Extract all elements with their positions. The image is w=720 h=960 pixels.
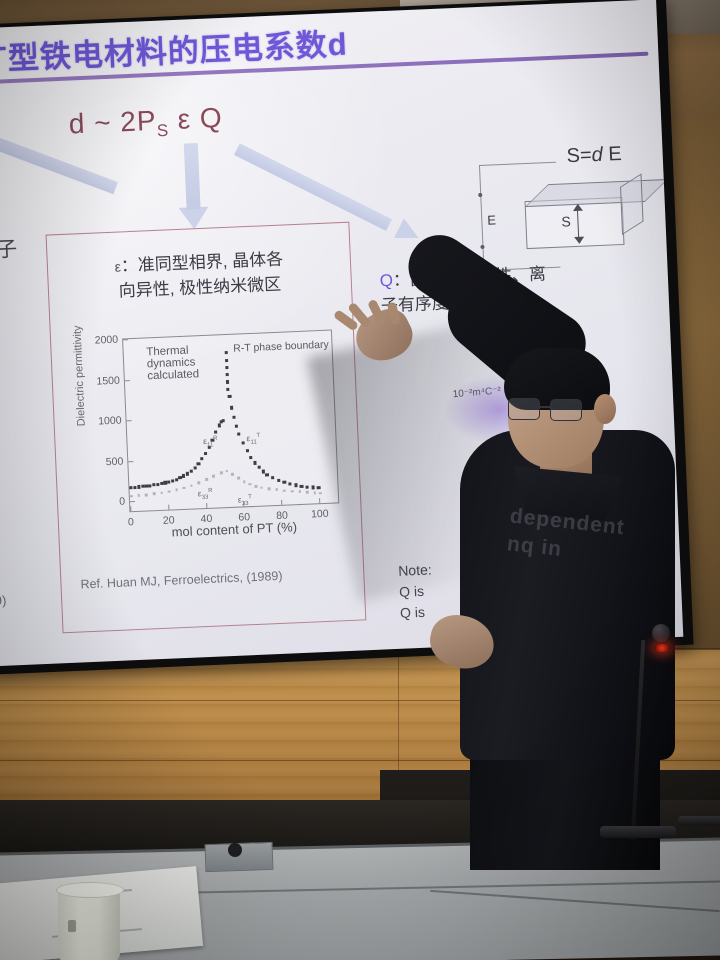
chart-data-point (231, 473, 234, 476)
lecture-photo-scene: 钛矿型铁电材料的压电系数d d ~ 2PS ε Q S=d E E S 的电子 … (0, 0, 720, 960)
chart-data-point (218, 424, 221, 427)
chart-y-tick-label: 1500 (96, 374, 120, 387)
chart-y-tick-mark (123, 339, 128, 340)
chart-data-point (261, 470, 264, 473)
chart-y-tick-label: 1000 (98, 415, 122, 428)
chart-data-point (183, 487, 186, 490)
note-line-3: Q is (400, 604, 426, 621)
chart-data-point (160, 491, 163, 494)
chart-curve-label: ε11T (246, 432, 260, 445)
cup-rim (56, 882, 124, 898)
chart-data-point (260, 486, 263, 489)
epsilon-line1: ：准同型相界, 晶体各 (120, 250, 283, 276)
presenter-ear (594, 394, 616, 424)
chart-data-point (130, 495, 133, 498)
chart-data-point (255, 485, 258, 488)
chart-data-point (221, 419, 224, 422)
chart-data-point (288, 482, 291, 485)
chart-y-tick-mark (125, 380, 130, 381)
chart-data-point (214, 431, 217, 434)
chart-data-point (300, 484, 303, 487)
chart-x-tick-mark (319, 498, 320, 503)
chart-annotation: R-T phase boundary (233, 338, 329, 355)
chart-x-tick-mark (281, 500, 282, 505)
power-led-indicator (654, 644, 670, 652)
chart-data-point (313, 491, 316, 494)
chart-data-point (275, 488, 278, 491)
chart-data-point (291, 490, 294, 493)
chart-data-point (230, 406, 233, 409)
piezo-formula: d ~ 2PS ε Q (68, 102, 223, 145)
strain-arrow-down (574, 237, 584, 244)
chart-y-tick-mark (128, 461, 133, 462)
chart-data-point (257, 466, 260, 469)
chart-data-point (298, 490, 301, 493)
chart-data-point (193, 466, 196, 469)
chart-curve-label: ε33R (198, 488, 213, 501)
presenter-glasses (508, 398, 582, 420)
chart-data-point (168, 490, 171, 493)
cup-logo (68, 920, 76, 932)
chart-data-point (228, 395, 231, 398)
chart-data-point (306, 485, 309, 488)
chart-data-point (212, 475, 215, 478)
chart-data-point (224, 351, 227, 354)
chart-data-point (204, 452, 207, 455)
chart-data-point (225, 380, 228, 383)
chart-data-point (190, 484, 193, 487)
field-label: E (487, 212, 496, 227)
microphone-base-secondary (678, 816, 720, 826)
chart-data-point (311, 486, 314, 489)
chart-data-point (237, 477, 240, 480)
chart-data-point (283, 481, 286, 484)
formula-subscript: S (157, 121, 170, 141)
chart-data-point (225, 470, 228, 473)
chart-data-point (243, 480, 246, 483)
socket-knob (228, 843, 242, 857)
chart-data-point (167, 480, 170, 483)
chart-data-point (306, 491, 309, 494)
equation-e: E (602, 143, 622, 166)
chart-data-point (271, 476, 274, 479)
arrow-center-head (179, 207, 210, 230)
formula-tail: ε Q (168, 102, 223, 135)
chart-data-point (237, 432, 240, 435)
left-text-fragment: 的电子 (0, 233, 18, 266)
chart-data-point (225, 366, 228, 369)
chart-data-point (225, 373, 228, 376)
chart-data-point (197, 462, 200, 465)
chart-data-point (283, 489, 286, 492)
epsilon-line2: 向异性, 极性纳米微区 (118, 274, 281, 300)
chart-data-point (249, 483, 252, 486)
chart-data-point (190, 469, 193, 472)
chart-y-tick-mark (127, 420, 132, 421)
chart-x-axis-label: mol content of PT (%) (130, 517, 338, 541)
strain-arrow-up (573, 204, 583, 211)
chart-data-point (268, 487, 271, 490)
chart-data-point (205, 478, 208, 481)
chart-x-tick-mark (130, 506, 131, 511)
chart-data-point (138, 494, 141, 497)
chart-data-point (319, 492, 322, 495)
chart-curve-label: ε33T (238, 494, 253, 507)
chart-data-point (241, 441, 244, 444)
chart-x-tick-mark (206, 503, 207, 508)
microphone-base (600, 826, 676, 838)
strain-label: S (561, 213, 571, 229)
chart-y-tick-label: 0 (119, 496, 125, 508)
arrow-center-shaft (184, 143, 201, 210)
chart-data-point (145, 493, 148, 496)
chart-data-point (198, 481, 201, 484)
q-symbol: Q (379, 271, 393, 291)
chart-data-point (225, 359, 228, 362)
chart-data-point (226, 388, 229, 391)
chart-annotation: calculated (147, 367, 199, 384)
chart-data-point (200, 457, 203, 460)
equation-s: S= (566, 144, 592, 167)
chart-data-point (245, 449, 248, 452)
chart-curve-label: ε11R (203, 436, 218, 449)
chart-data-point (277, 479, 280, 482)
chart-data-point (220, 472, 223, 475)
microphone-head (652, 624, 670, 642)
chart-data-point (265, 473, 268, 476)
chart-data-point (317, 486, 320, 489)
chart-data-point (294, 483, 297, 486)
chart-data-point (233, 416, 236, 419)
chart-data-point (235, 425, 238, 428)
chart-data-point (153, 493, 156, 496)
chart-data-point (249, 456, 252, 459)
year-fragment: 2009) (0, 593, 7, 609)
chart-y-tick-mark (130, 501, 135, 502)
formula-lead: d ~ 2P (68, 105, 157, 140)
strain-equation: S=d E (566, 143, 622, 168)
chart-x-tick-mark (168, 505, 169, 510)
chart-data-point (254, 461, 257, 464)
chart-y-tick-label: 2000 (95, 334, 119, 347)
chart-data-point (175, 488, 178, 491)
chart-y-tick-label: 500 (106, 455, 124, 468)
